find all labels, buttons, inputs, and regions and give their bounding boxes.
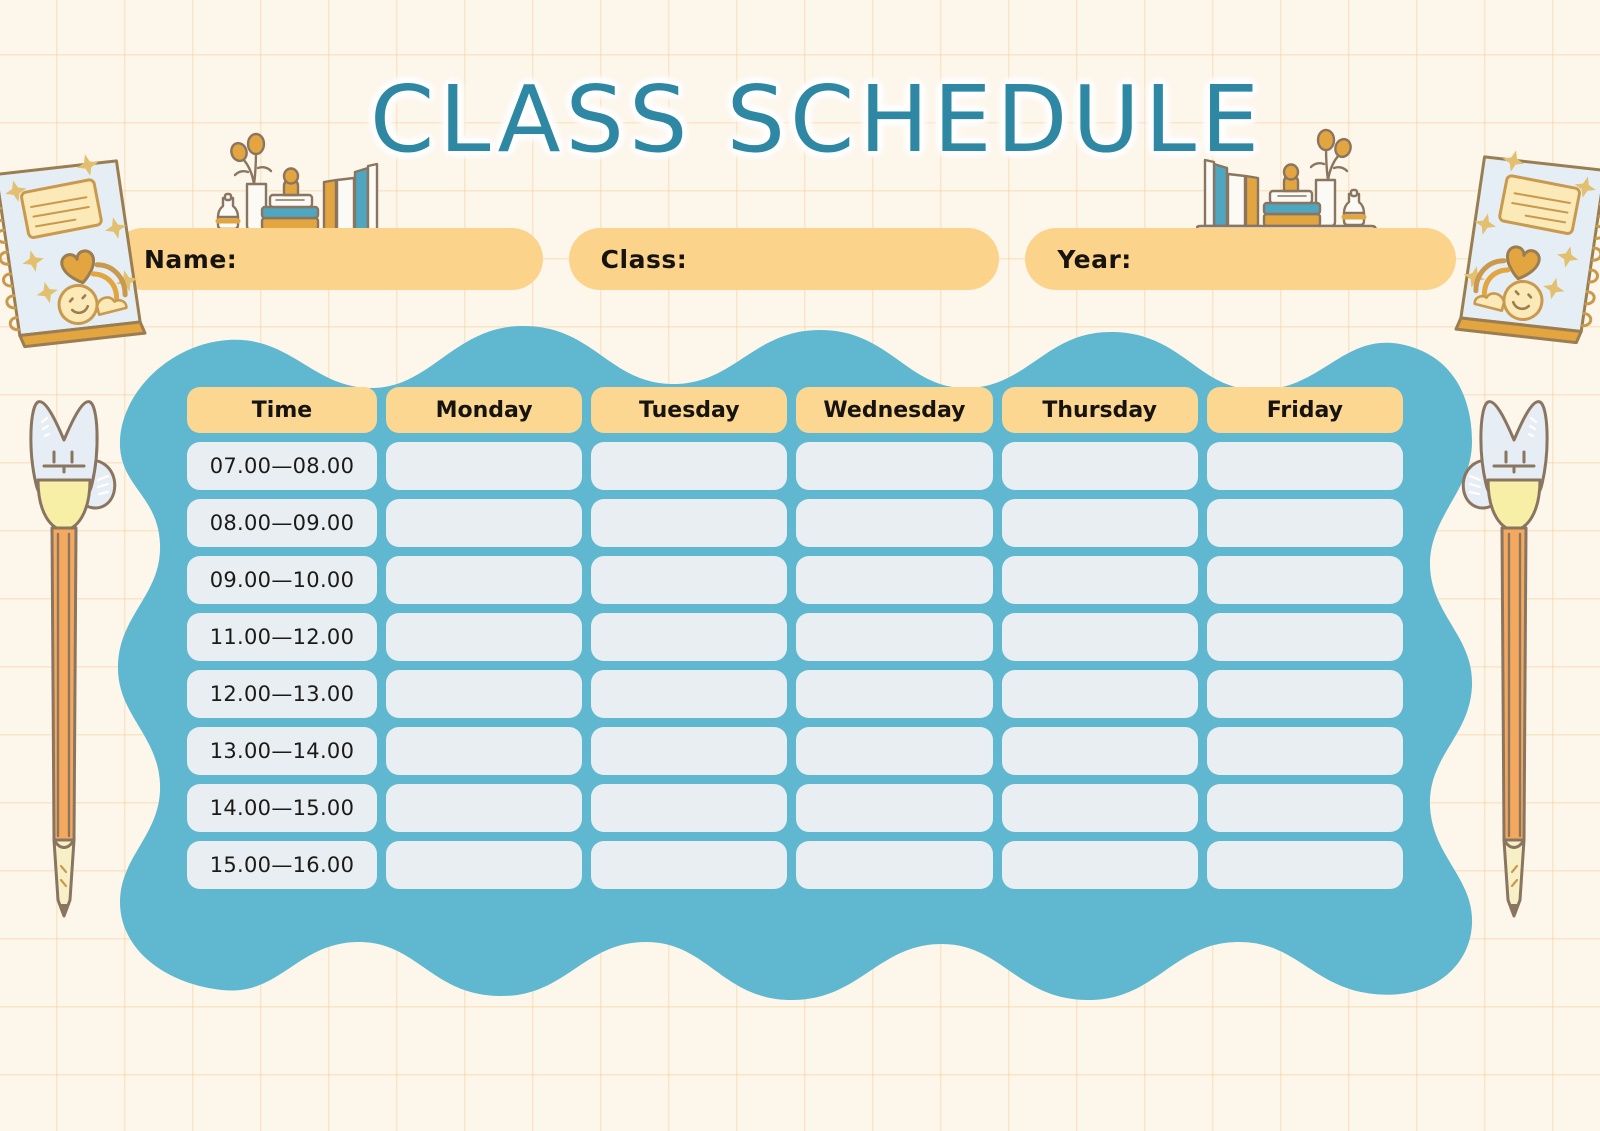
schedule-cell-thursday[interactable] bbox=[1002, 556, 1198, 604]
time-slot-label: 15.00—16.00 bbox=[187, 841, 377, 889]
schedule-cell-tuesday[interactable] bbox=[591, 499, 787, 547]
schedule-cell-friday[interactable] bbox=[1207, 442, 1403, 490]
schedule-cell-monday[interactable] bbox=[386, 841, 582, 889]
schedule-cell-thursday[interactable] bbox=[1002, 613, 1198, 661]
schedule-cell-friday[interactable] bbox=[1207, 613, 1403, 661]
column-header-wednesday: Wednesday bbox=[796, 387, 992, 433]
year-field-label: Year: bbox=[1057, 245, 1131, 274]
schedule-cell-monday[interactable] bbox=[386, 556, 582, 604]
schedule-cell-wednesday[interactable] bbox=[796, 841, 992, 889]
schedule-cell-monday[interactable] bbox=[386, 727, 582, 775]
info-fields-row: Name: Class: Year: bbox=[112, 228, 1456, 290]
table-row: 11.00—12.00 bbox=[187, 613, 1403, 661]
schedule-cell-thursday[interactable] bbox=[1002, 727, 1198, 775]
schedule-cell-monday[interactable] bbox=[386, 442, 582, 490]
table-row: 15.00—16.00 bbox=[187, 841, 1403, 889]
table-header-row: Time Monday Tuesday Wednesday Thursday F… bbox=[187, 387, 1403, 433]
cat-pencil-left-icon bbox=[14, 388, 134, 932]
schedule-cell-thursday[interactable] bbox=[1002, 442, 1198, 490]
column-header-tuesday: Tuesday bbox=[591, 387, 787, 433]
time-slot-label: 11.00—12.00 bbox=[187, 613, 377, 661]
schedule-cell-thursday[interactable] bbox=[1002, 784, 1198, 832]
notebook-right-icon bbox=[1440, 136, 1600, 355]
schedule-cell-friday[interactable] bbox=[1207, 556, 1403, 604]
time-slot-label: 12.00—13.00 bbox=[187, 670, 377, 718]
schedule-table: Time Monday Tuesday Wednesday Thursday F… bbox=[178, 378, 1412, 898]
table-row: 14.00—15.00 bbox=[187, 784, 1403, 832]
schedule-table-container: Time Monday Tuesday Wednesday Thursday F… bbox=[178, 378, 1412, 958]
schedule-cell-thursday[interactable] bbox=[1002, 670, 1198, 718]
schedule-cell-monday[interactable] bbox=[386, 499, 582, 547]
schedule-cell-friday[interactable] bbox=[1207, 499, 1403, 547]
cat-pencil-right-icon bbox=[1444, 388, 1564, 932]
column-header-monday: Monday bbox=[386, 387, 582, 433]
schedule-cell-wednesday[interactable] bbox=[796, 556, 992, 604]
schedule-cell-friday[interactable] bbox=[1207, 841, 1403, 889]
table-body: 07.00—08.00 08.00—09.00 bbox=[187, 442, 1403, 889]
schedule-cell-friday[interactable] bbox=[1207, 784, 1403, 832]
schedule-cell-tuesday[interactable] bbox=[591, 784, 787, 832]
schedule-cell-tuesday[interactable] bbox=[591, 556, 787, 604]
schedule-cell-friday[interactable] bbox=[1207, 727, 1403, 775]
schedule-cell-thursday[interactable] bbox=[1002, 499, 1198, 547]
schedule-cell-monday[interactable] bbox=[386, 670, 582, 718]
notebook-left-icon bbox=[0, 140, 161, 359]
schedule-cell-tuesday[interactable] bbox=[591, 670, 787, 718]
time-slot-label: 08.00—09.00 bbox=[187, 499, 377, 547]
schedule-cell-monday[interactable] bbox=[386, 613, 582, 661]
schedule-cell-tuesday[interactable] bbox=[591, 727, 787, 775]
table-row: 13.00—14.00 bbox=[187, 727, 1403, 775]
schedule-cell-tuesday[interactable] bbox=[591, 613, 787, 661]
schedule-cell-wednesday[interactable] bbox=[796, 442, 992, 490]
table-row: 09.00—10.00 bbox=[187, 556, 1403, 604]
schedule-cell-wednesday[interactable] bbox=[796, 613, 992, 661]
time-slot-label: 09.00—10.00 bbox=[187, 556, 377, 604]
column-header-friday: Friday bbox=[1207, 387, 1403, 433]
class-field-label: Class: bbox=[601, 245, 688, 274]
page-title: CLASS SCHEDULE bbox=[370, 66, 1200, 173]
table-row: 12.00—13.00 bbox=[187, 670, 1403, 718]
schedule-cell-wednesday[interactable] bbox=[796, 499, 992, 547]
title-row: CLASS SCHEDULE bbox=[0, 60, 1600, 200]
schedule-cell-wednesday[interactable] bbox=[796, 670, 992, 718]
column-header-thursday: Thursday bbox=[1002, 387, 1198, 433]
name-field[interactable]: Name: bbox=[112, 228, 543, 290]
class-schedule-page: CLASS SCHEDULE bbox=[0, 0, 1600, 1131]
year-field[interactable]: Year: bbox=[1025, 228, 1456, 290]
table-row: 08.00—09.00 bbox=[187, 499, 1403, 547]
schedule-board: Time Monday Tuesday Wednesday Thursday F… bbox=[100, 300, 1490, 1020]
schedule-cell-thursday[interactable] bbox=[1002, 841, 1198, 889]
column-header-time: Time bbox=[187, 387, 377, 433]
table-row: 07.00—08.00 bbox=[187, 442, 1403, 490]
time-slot-label: 07.00—08.00 bbox=[187, 442, 377, 490]
schedule-cell-tuesday[interactable] bbox=[591, 841, 787, 889]
time-slot-label: 13.00—14.00 bbox=[187, 727, 377, 775]
schedule-cell-monday[interactable] bbox=[386, 784, 582, 832]
schedule-cell-wednesday[interactable] bbox=[796, 727, 992, 775]
class-field[interactable]: Class: bbox=[569, 228, 1000, 290]
schedule-cell-tuesday[interactable] bbox=[591, 442, 787, 490]
time-slot-label: 14.00—15.00 bbox=[187, 784, 377, 832]
schedule-cell-wednesday[interactable] bbox=[796, 784, 992, 832]
schedule-cell-friday[interactable] bbox=[1207, 670, 1403, 718]
